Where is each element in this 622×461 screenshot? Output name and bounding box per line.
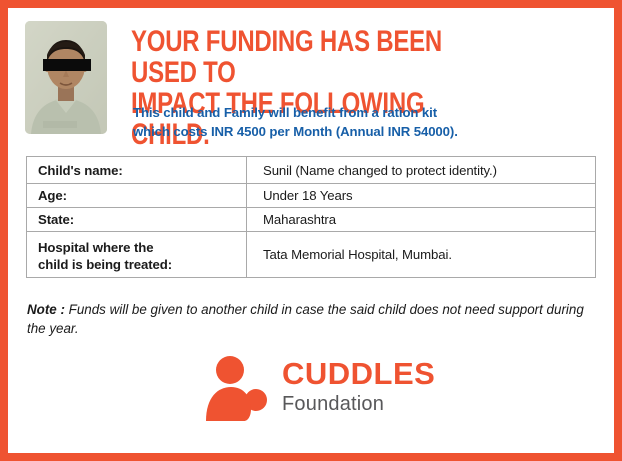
logo-title: CUDDLES bbox=[282, 357, 452, 391]
table-row: State: Maharashtra bbox=[27, 208, 596, 232]
row-value: Maharashtra bbox=[247, 208, 596, 232]
cuddles-foundation-logo: CUDDLES Foundation bbox=[204, 353, 444, 425]
note-text: Note : Funds will be given to another ch… bbox=[27, 300, 587, 338]
row-value: Under 18 Years bbox=[247, 184, 596, 208]
note-body: Funds will be given to another child in … bbox=[27, 302, 584, 336]
table-row: Age: Under 18 Years bbox=[27, 184, 596, 208]
child-photo bbox=[25, 21, 107, 134]
child-photo-image bbox=[25, 21, 107, 134]
logo-wordmark: CUDDLES Foundation bbox=[282, 357, 452, 416]
table-row: Child's name: Sunil (Name changed to pro… bbox=[27, 157, 596, 184]
cuddles-parent-child-icon bbox=[204, 353, 276, 425]
row-label: Hospital where the child is being treate… bbox=[27, 232, 247, 278]
row-value: Sunil (Name changed to protect identity.… bbox=[247, 157, 596, 184]
funding-impact-card: YOUR FUNDING HAS BEEN USED TO IMPACT THE… bbox=[0, 0, 622, 461]
child-details-table: Child's name: Sunil (Name changed to pro… bbox=[26, 156, 596, 278]
table-row: Hospital where the child is being treate… bbox=[27, 232, 596, 278]
card-inner: YOUR FUNDING HAS BEEN USED TO IMPACT THE… bbox=[8, 8, 614, 453]
header-section: YOUR FUNDING HAS BEEN USED TO IMPACT THE… bbox=[8, 8, 614, 140]
note-prefix: Note : bbox=[27, 302, 65, 317]
row-value: Tata Memorial Hospital, Mumbai. bbox=[247, 232, 596, 278]
row-label: State: bbox=[27, 208, 247, 232]
row-label: Child's name: bbox=[27, 157, 247, 184]
row-label: Age: bbox=[27, 184, 247, 208]
subtitle-text: This child and Family will benefit from … bbox=[133, 104, 603, 141]
logo-subtitle: Foundation bbox=[282, 392, 452, 416]
